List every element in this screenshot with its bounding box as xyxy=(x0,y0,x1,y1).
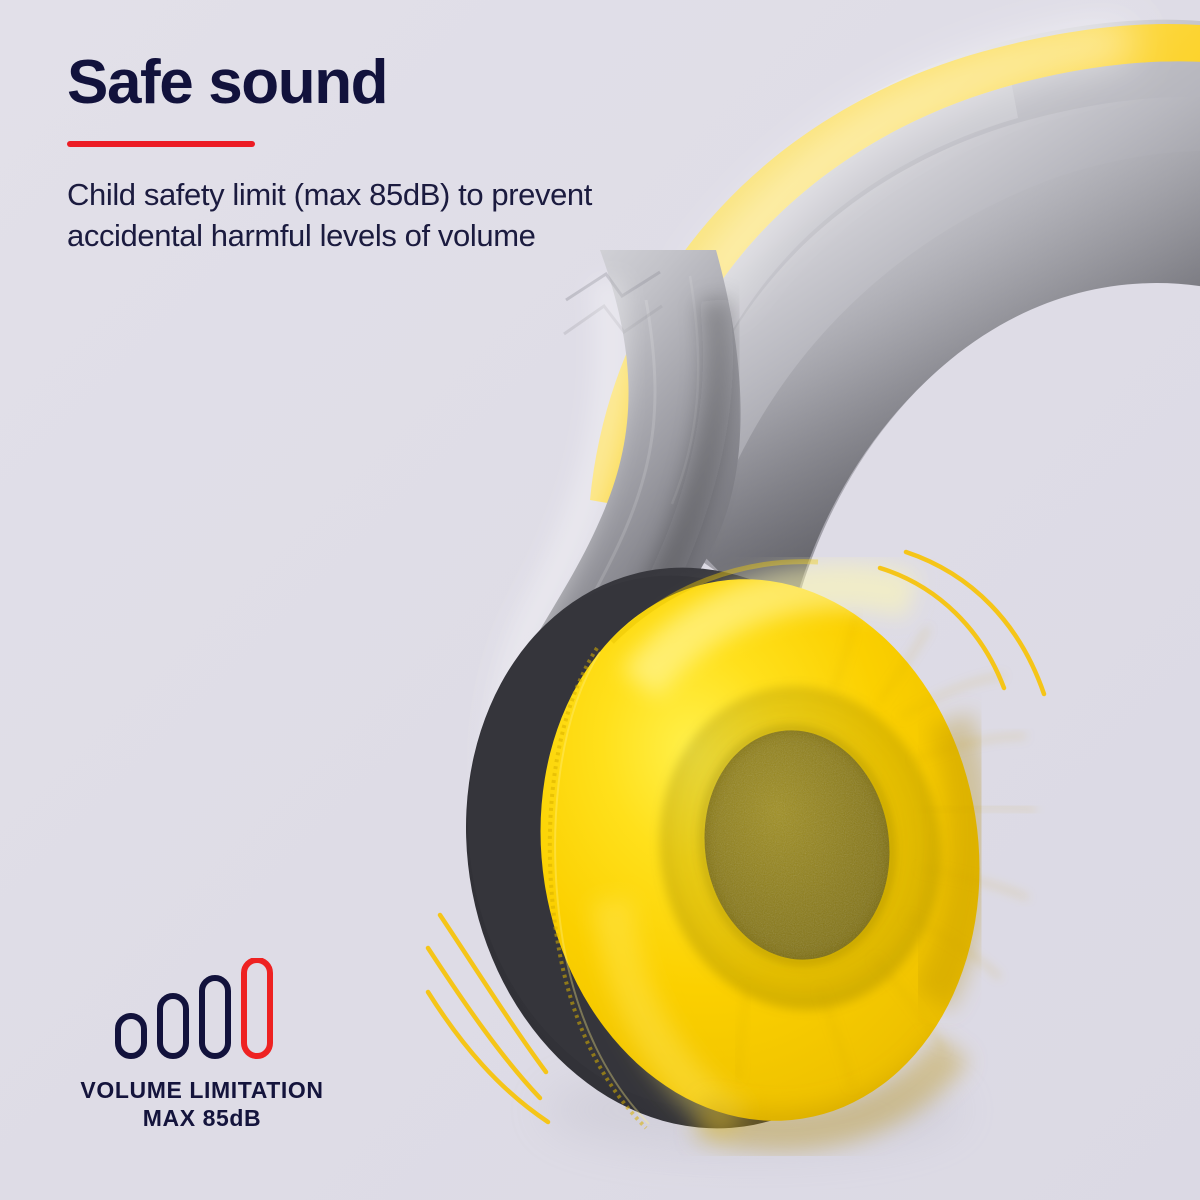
volume-bar-1 xyxy=(118,1016,144,1056)
accent-rule xyxy=(67,141,255,147)
page-title: Safe sound xyxy=(67,52,827,114)
volume-bar-4-limit xyxy=(244,960,270,1056)
badge-caption: VOLUME LIMITATION MAX 85dB xyxy=(66,1076,338,1132)
subtitle-text: Child safety limit (max 85dB) to prevent… xyxy=(67,175,827,257)
volume-bars-icon xyxy=(66,958,338,1060)
volume-bar-3 xyxy=(202,978,228,1056)
volume-limitation-badge: VOLUME LIMITATION MAX 85dB xyxy=(66,958,338,1132)
volume-bar-2 xyxy=(160,996,186,1056)
product-feature-card: Safe sound Child safety limit (max 85dB)… xyxy=(0,0,1200,1200)
headline-block: Safe sound Child safety limit (max 85dB)… xyxy=(67,52,827,257)
